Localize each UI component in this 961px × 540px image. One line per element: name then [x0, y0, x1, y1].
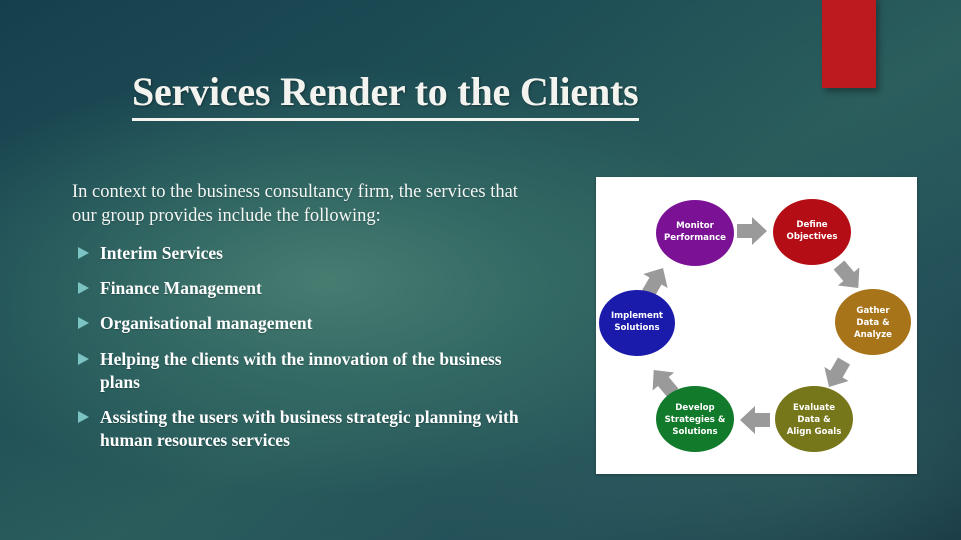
list-item-label: Assisting the users with business strate…: [100, 406, 542, 453]
node-label-line: Data &: [797, 415, 831, 425]
node-label-line: Solutions: [614, 323, 659, 333]
triangle-bullet-icon: [78, 282, 89, 294]
node-label-line: Strategies &: [665, 415, 726, 425]
node-label-line: Solutions: [672, 427, 717, 437]
presentation-slide: Services Render to the Clients In contex…: [0, 0, 961, 540]
list-item-label: Interim Services: [100, 242, 223, 265]
triangle-bullet-icon: [78, 247, 89, 259]
list-item-label: Organisational management: [100, 312, 312, 335]
triangle-bullet-icon: [78, 411, 89, 423]
node-develop-strategies-solutions: Develop Strategies & Solutions: [656, 386, 734, 452]
node-gather-data-analyze: Gather Data & Analyze: [835, 289, 911, 355]
list-item: Organisational management: [72, 312, 542, 335]
node-label-line: Monitor: [676, 221, 715, 231]
node-label-line: Define: [796, 220, 827, 230]
list-item: Assisting the users with business strate…: [72, 406, 542, 453]
page-title: Services Render to the Clients: [132, 70, 832, 115]
node-label-line: Gather: [856, 306, 890, 316]
intro-paragraph: In context to the business consultancy f…: [72, 180, 542, 229]
node-label-line: Objectives: [787, 232, 838, 242]
services-list: Interim Services Finance Management Orga…: [72, 242, 542, 453]
node-evaluate-data-align-goals: Evaluate Data & Align Goals: [775, 386, 853, 452]
list-item: Finance Management: [72, 277, 542, 300]
page-title-text: Services Render to the Clients: [132, 69, 639, 121]
node-label-line: Data &: [856, 318, 890, 328]
triangle-bullet-icon: [78, 353, 89, 365]
cycle-diagram-svg: Monitor Performance Define Objectives Ga…: [596, 177, 917, 474]
list-item: Helping the clients with the innovation …: [72, 348, 542, 395]
node-label-line: Implement: [611, 311, 663, 321]
cycle-diagram-image: Monitor Performance Define Objectives Ga…: [596, 177, 917, 474]
node-label-line: Evaluate: [793, 403, 835, 413]
content-column: In context to the business consultancy f…: [72, 180, 542, 453]
node-label-line: Performance: [664, 233, 726, 243]
node-implement-solutions: Implement Solutions: [599, 290, 675, 356]
triangle-bullet-icon: [78, 317, 89, 329]
node-label-line: Align Goals: [787, 427, 842, 437]
list-item-label: Helping the clients with the innovation …: [100, 348, 542, 395]
list-item-label: Finance Management: [100, 277, 262, 300]
list-item: Interim Services: [72, 242, 542, 265]
node-define-objectives: Define Objectives: [773, 199, 851, 265]
node-monitor-performance: Monitor Performance: [656, 200, 734, 266]
node-label-line: Analyze: [854, 330, 892, 340]
node-label-line: Develop: [675, 403, 714, 413]
